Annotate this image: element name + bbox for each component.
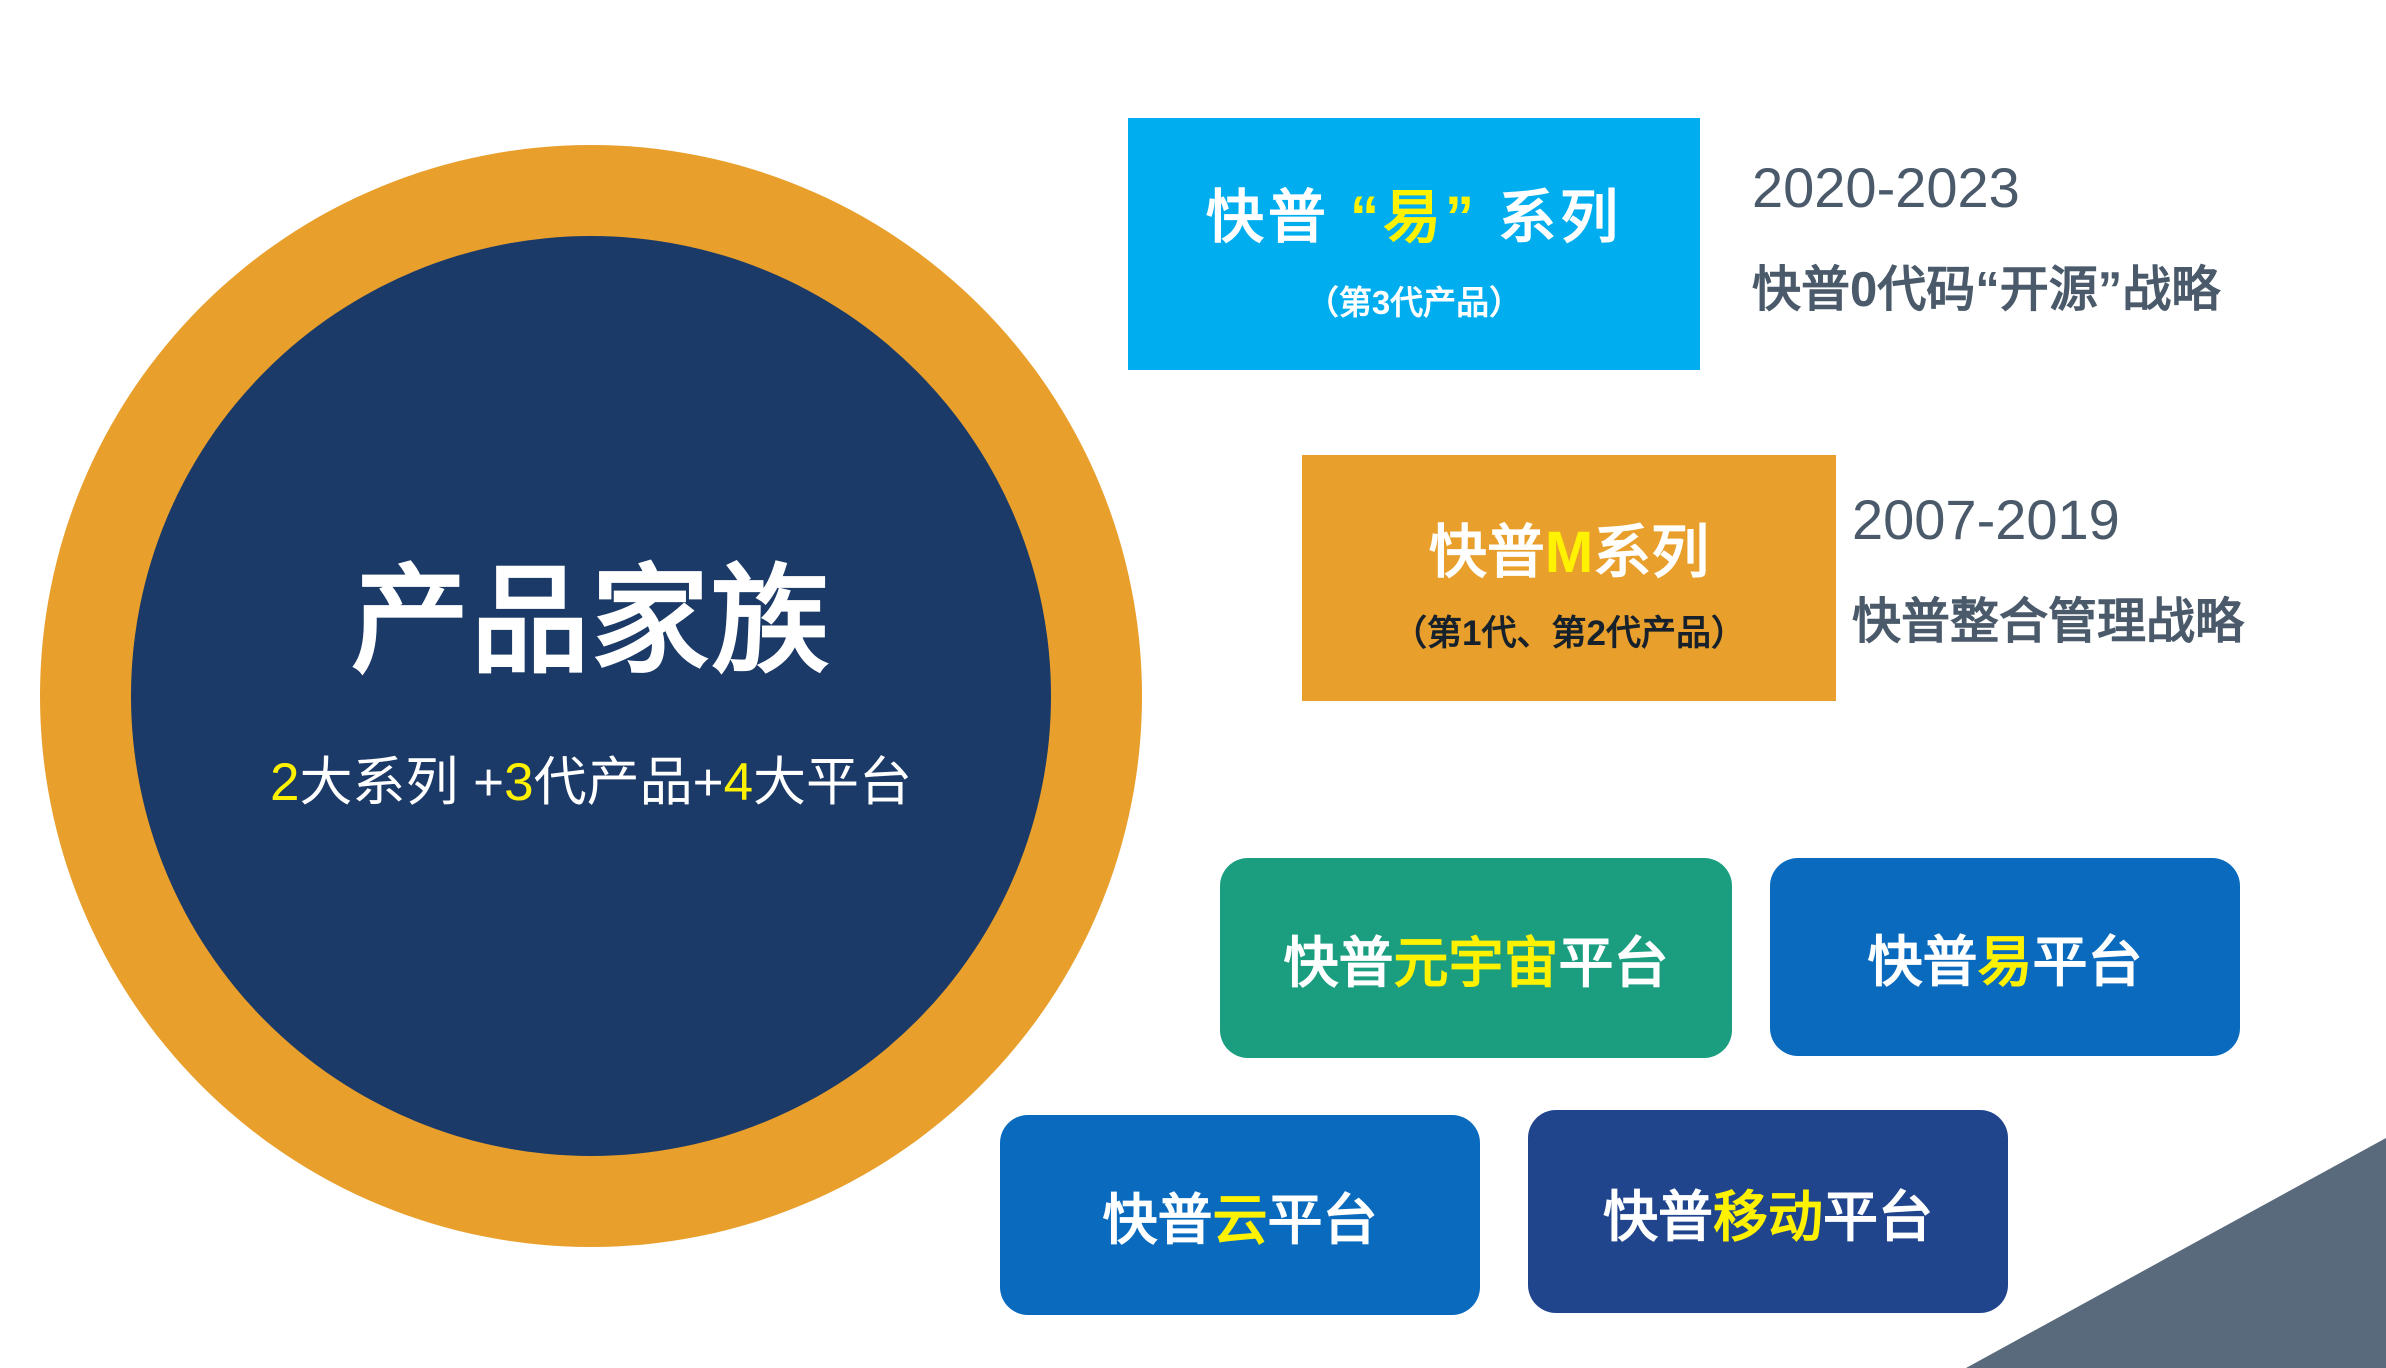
slide-canvas: 产品家族 2大系列 +3代产品+4大平台 快普 “易” 系列 （第3代产品） 2…	[0, 0, 2386, 1368]
era-annotation-m: 2007-2019 快普整合管理战略	[1852, 487, 2244, 653]
corner-triangle-shape	[1966, 1138, 2386, 1368]
platform-card-metaverse[interactable]: 快普元宇宙平台	[1220, 858, 1732, 1058]
series-card-m-subtitle: （第1代、第2代产品）	[1392, 605, 1746, 656]
corner-triangle-decoration	[1966, 1138, 2386, 1368]
platform-card-mobile[interactable]: 快普移动平台	[1528, 1110, 2008, 1313]
era-years-m: 2007-2019	[1852, 487, 2244, 552]
platform-label-yi: 快普易平台	[1867, 917, 2142, 997]
series-card-easy[interactable]: 快普 “易” 系列 （第3代产品）	[1128, 118, 1700, 370]
platform-label-metaverse: 快普元宇宙平台	[1283, 918, 1668, 998]
platform-card-yi[interactable]: 快普易平台	[1770, 858, 2240, 1056]
platform-label-cloud: 快普云平台	[1102, 1175, 1377, 1255]
platform-card-cloud[interactable]: 快普云平台	[1000, 1115, 1480, 1315]
era-years-easy: 2020-2023	[1752, 155, 2220, 220]
era-annotation-easy: 2020-2023 快普0代码“开源”战略	[1752, 155, 2220, 321]
era-description-easy: 快普0代码“开源”战略	[1752, 250, 2220, 321]
page-title: 产品家族	[351, 558, 831, 688]
product-family-summary: 2大系列 +3代产品+4大平台	[270, 740, 912, 816]
era-description-m: 快普整合管理战略	[1852, 582, 2244, 653]
series-card-m[interactable]: 快普M系列 （第1代、第2代产品）	[1302, 455, 1836, 701]
series-card-easy-title: 快普 “易” 系列	[1206, 170, 1622, 254]
series-card-easy-subtitle: （第3代产品）	[1306, 276, 1522, 324]
product-family-content: 产品家族 2大系列 +3代产品+4大平台	[131, 236, 1051, 1156]
platform-label-mobile: 快普移动平台	[1603, 1172, 1933, 1252]
series-card-m-title: 快普M系列	[1429, 505, 1709, 589]
